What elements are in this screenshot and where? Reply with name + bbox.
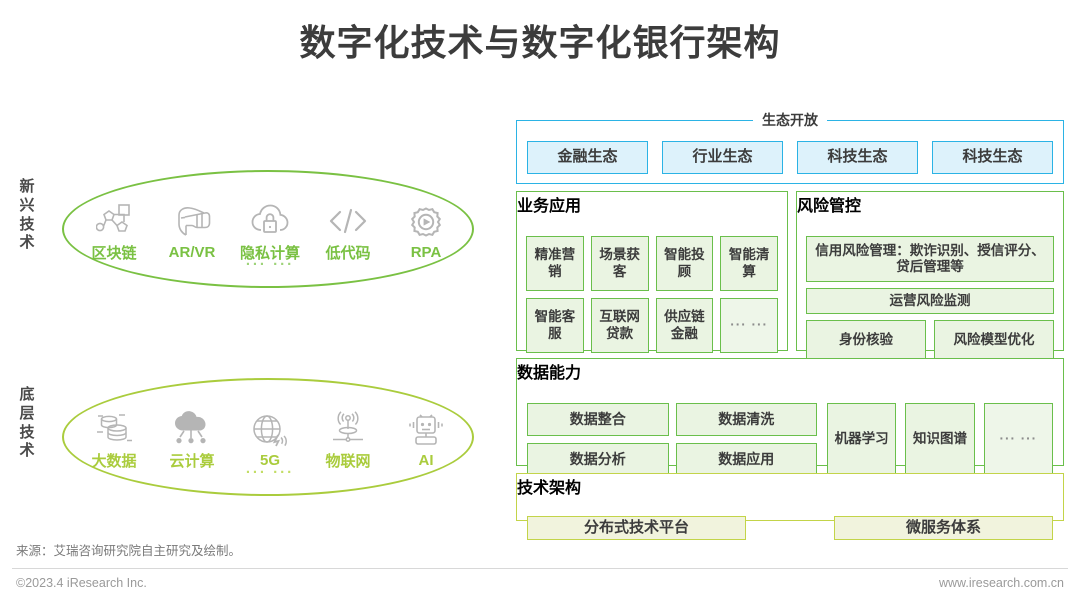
tier-label-foundation: 底 层 技 术 <box>12 386 42 461</box>
architecture-inner: 分布式技术平台 微服务体系 <box>517 498 1063 546</box>
eco-item-tech-1[interactable]: 科技生态 <box>797 141 918 174</box>
group-title-data: 数据能力 <box>517 359 1063 383</box>
data-item-cleaning[interactable]: 数据清洗 <box>676 403 818 436</box>
tier-label-char: 技 <box>12 424 42 443</box>
group-title-business: 业务应用 <box>517 192 787 216</box>
database-stack-icon <box>95 407 133 445</box>
tier-label-char: 层 <box>12 405 42 424</box>
blockchain-icon <box>96 199 132 237</box>
eco-item-financial[interactable]: 金融生态 <box>527 141 648 174</box>
tech-item-big-data[interactable]: 大数据 <box>78 407 150 471</box>
risk-bottom-row: 身份核验 风险模型优化 <box>806 320 1054 360</box>
globe-signal-icon <box>251 409 289 447</box>
tech-item-cloud-computing[interactable]: 云计算 <box>156 407 228 471</box>
data-right-grid: 机器学习 知识图谱 ··· ··· <box>827 403 1053 476</box>
tier-label-char: 术 <box>12 442 42 461</box>
biz-item-internet-loan[interactable]: 互联网贷款 <box>591 298 649 353</box>
emerging-tech-more: ··· ··· <box>64 256 476 273</box>
group-risk-control: 风险管控 信用风险管理：欺诈识别、授信评分、贷后管理等 运营风险监测 身份核验 … <box>796 191 1064 351</box>
tech-item-iot[interactable]: 物联网 <box>312 407 384 471</box>
biz-item-smart-advisory[interactable]: 智能投顾 <box>656 236 714 291</box>
data-left-grid: 数据整合 数据清洗 数据分析 数据应用 <box>527 403 817 476</box>
tech-item-ai[interactable]: AI <box>390 409 462 469</box>
group-title-architecture: 技术架构 <box>517 474 1063 498</box>
foundation-tech-more: ··· ··· <box>64 464 476 481</box>
group-ecosystem: 生态开放 金融生态 行业生态 科技生态 科技生态 <box>516 120 1064 184</box>
gear-play-icon <box>408 201 444 239</box>
tech-item-5g[interactable]: 5G <box>234 409 306 469</box>
biz-item-smart-service[interactable]: 智能客服 <box>526 298 584 353</box>
group-technical-architecture: 技术架构 分布式技术平台 微服务体系 <box>516 473 1064 521</box>
risk-item-operation[interactable]: 运营风险监测 <box>806 288 1054 314</box>
tier-label-char: 兴 <box>12 197 42 216</box>
data-item-integration[interactable]: 数据整合 <box>527 403 669 436</box>
risk-item-model-optimization[interactable]: 风险模型优化 <box>934 320 1054 360</box>
cloud-network-icon <box>172 407 212 445</box>
copyright-text: ©2023.4 iResearch Inc. <box>16 576 147 590</box>
page-title: 数字化技术与数字化银行架构 <box>0 14 1080 66</box>
code-brackets-icon <box>328 199 368 237</box>
group-business-application: 业务应用 精准营销 场景获客 智能投顾 智能清算 智能客服 互联网贷款 供应链金… <box>516 191 788 351</box>
left-technology-panel: 新 兴 技 术 底 层 技 术 <box>0 150 500 520</box>
foundation-tech-ellipse: 大数据 <box>62 378 474 496</box>
tech-item-rpa[interactable]: RPA <box>390 201 462 261</box>
data-item-more: ··· ··· <box>984 403 1053 476</box>
footer-divider <box>12 568 1068 569</box>
tier-label-char: 底 <box>12 386 42 405</box>
data-item-application[interactable]: 数据应用 <box>676 443 818 476</box>
source-note: 来源：艾瑞咨询研究院自主研究及绘制。 <box>16 540 241 559</box>
risk-item-credit[interactable]: 信用风险管理：欺诈识别、授信评分、贷后管理等 <box>806 236 1054 282</box>
data-item-machine-learning[interactable]: 机器学习 <box>827 403 896 476</box>
group-title-ecosystem: 生态开放 <box>517 110 1063 130</box>
tech-item-blockchain[interactable]: 区块链 <box>78 199 150 263</box>
bank-architecture-panel: 生态开放 金融生态 行业生态 科技生态 科技生态 业务应用 精准营销 场景获客 … <box>516 120 1064 521</box>
eco-item-tech-2[interactable]: 科技生态 <box>932 141 1053 174</box>
group-title-risk: 风险管控 <box>797 192 1063 216</box>
tier-label-char: 术 <box>12 234 42 253</box>
vr-headset-icon <box>173 201 211 239</box>
risk-item-identity-verification[interactable]: 身份核验 <box>806 320 926 360</box>
iot-antenna-icon <box>329 407 367 445</box>
business-grid: 精准营销 场景获客 智能投顾 智能清算 智能客服 互联网贷款 供应链金融 ···… <box>517 216 787 361</box>
data-item-analysis[interactable]: 数据分析 <box>527 443 669 476</box>
data-item-knowledge-graph[interactable]: 知识图谱 <box>905 403 974 476</box>
group-data-capability: 数据能力 数据整合 数据清洗 数据分析 数据应用 机器学习 知识图谱 ··· ·… <box>516 358 1064 466</box>
business-risk-row: 业务应用 精准营销 场景获客 智能投顾 智能清算 智能客服 互联网贷款 供应链金… <box>516 191 1064 351</box>
cloud-lock-icon <box>250 199 290 237</box>
biz-item-precision-marketing[interactable]: 精准营销 <box>526 236 584 291</box>
tier-label-char: 技 <box>12 216 42 235</box>
risk-inner: 信用风险管理：欺诈识别、授信评分、贷后管理等 运营风险监测 身份核验 风险模型优… <box>797 216 1063 368</box>
tier-label-emerging: 新 兴 技 术 <box>12 178 42 253</box>
biz-item-more: ··· ··· <box>720 298 778 353</box>
tier-label-char: 新 <box>12 178 42 197</box>
biz-item-supply-chain-finance[interactable]: 供应链金融 <box>656 298 714 353</box>
data-inner: 数据整合 数据清洗 数据分析 数据应用 机器学习 知识图谱 ··· ··· <box>517 383 1063 484</box>
emerging-tech-ellipse: 区块链 AR/VR <box>62 170 474 288</box>
biz-item-scenario-acquisition[interactable]: 场景获客 <box>591 236 649 291</box>
biz-item-smart-settlement[interactable]: 智能清算 <box>720 236 778 291</box>
tech-item-arvr[interactable]: AR/VR <box>156 201 228 261</box>
tech-item-low-code[interactable]: 低代码 <box>312 199 384 263</box>
tech-item-privacy-computing[interactable]: 隐私计算 <box>234 199 306 263</box>
arch-item-distributed-platform[interactable]: 分布式技术平台 <box>527 516 746 540</box>
website-text: www.iresearch.com.cn <box>939 576 1064 590</box>
eco-item-industry[interactable]: 行业生态 <box>662 141 783 174</box>
robot-head-icon <box>407 409 445 447</box>
arch-item-microservices[interactable]: 微服务体系 <box>834 516 1053 540</box>
